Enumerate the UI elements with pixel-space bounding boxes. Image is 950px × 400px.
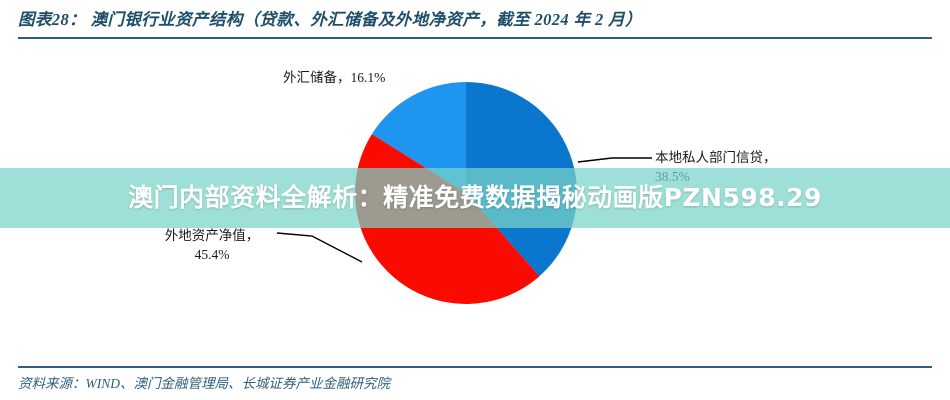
footer-divider [18,366,932,368]
chart-figure: 图表28： 澳门银行业资产结构（贷款、外汇储备及外地净资产，截至 2024 年 … [0,0,950,400]
figure-source: 资料来源：WIND、澳门金融管理局、长城证券产业金融研究院 [18,372,932,396]
leader-line-credit [578,158,652,162]
leader-line-net-assets [277,233,362,262]
pie-label-fx-reserves: 外汇储备，16.1% [283,68,385,87]
pie-label-net-external-assets: 外地资产净值， 45.4% [148,226,276,264]
watermark-text: 澳门内部资料全解析：精准免费数据揭秘动画版PZN598.29 [0,168,950,228]
header-divider [18,37,932,39]
figure-title: 图表28： 澳门银行业资产结构（贷款、外汇储备及外地净资产，截至 2024 年 … [18,6,932,34]
